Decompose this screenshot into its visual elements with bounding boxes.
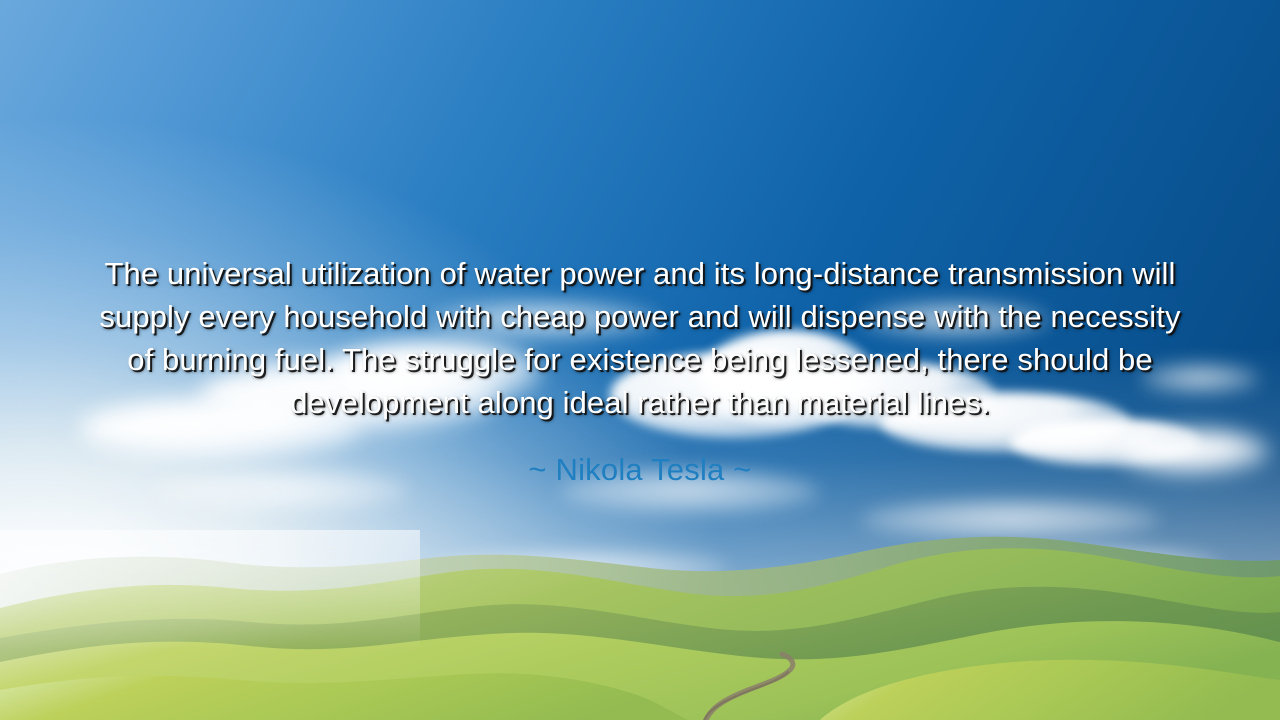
quote-attribution: ~ Nikola Tesla ~ xyxy=(92,450,1188,490)
rolling-hills xyxy=(0,530,1280,720)
quote-wallpaper: The universal utilization of water power… xyxy=(0,0,1280,720)
quote-text: The universal utilization of water power… xyxy=(92,252,1188,424)
quote-block: The universal utilization of water power… xyxy=(92,252,1188,490)
